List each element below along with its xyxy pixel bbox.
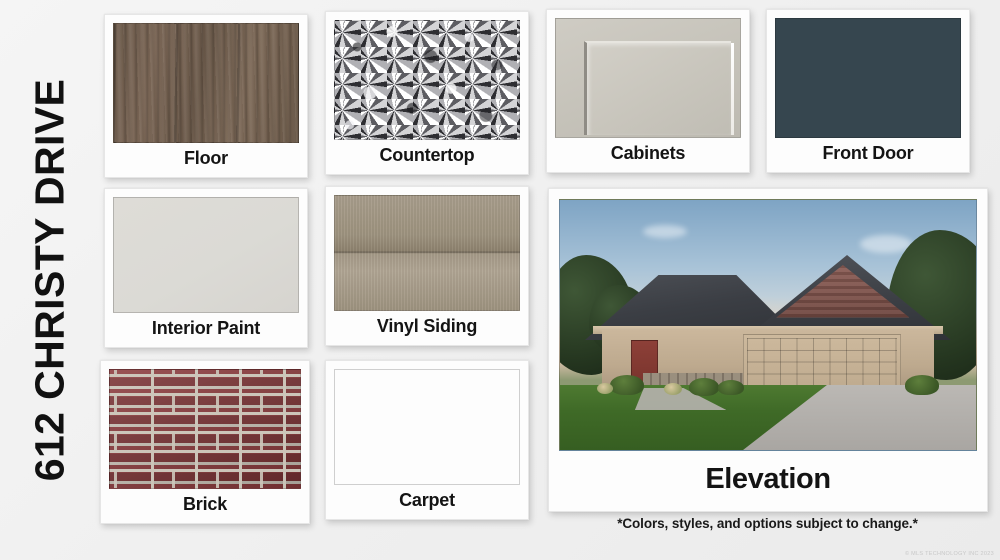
swatch-countertop bbox=[334, 20, 520, 140]
flower-bed-icon bbox=[664, 383, 682, 395]
selection-label-front-door: Front Door bbox=[775, 138, 961, 172]
cloud-icon bbox=[643, 225, 687, 238]
swatch-cabinets bbox=[555, 18, 741, 138]
selection-label-cabinets: Cabinets bbox=[555, 138, 741, 172]
selections-board: 612 CHRISTY DRIVE Floor Countertop Cabin… bbox=[0, 0, 1000, 560]
disclaimer-text: *Colors, styles, and options subject to … bbox=[545, 516, 990, 531]
shrub-icon bbox=[905, 375, 939, 395]
cabinet-panel-detail bbox=[584, 41, 731, 134]
swatch-vinyl-siding bbox=[334, 195, 520, 311]
swatch-brick bbox=[109, 369, 301, 489]
shrub-icon bbox=[718, 380, 744, 395]
swatch-floor bbox=[113, 23, 299, 143]
address-title-rail: 612 CHRISTY DRIVE bbox=[0, 0, 100, 560]
selection-label-floor: Floor bbox=[113, 143, 299, 177]
elevation-label: Elevation bbox=[559, 451, 977, 511]
selection-label-carpet: Carpet bbox=[334, 485, 520, 519]
selection-card-brick[interactable]: Brick bbox=[100, 360, 310, 524]
selection-label-brick: Brick bbox=[109, 489, 301, 523]
selection-label-interior-paint: Interior Paint bbox=[113, 313, 299, 347]
flower-bed-icon bbox=[597, 383, 613, 394]
garage-door bbox=[743, 334, 901, 389]
elevation-rendering bbox=[559, 199, 977, 451]
selection-card-front-door[interactable]: Front Door bbox=[766, 9, 970, 173]
selection-card-vinyl-siding[interactable]: Vinyl Siding bbox=[325, 186, 529, 346]
selection-card-floor[interactable]: Floor bbox=[104, 14, 308, 178]
swatch-interior-paint bbox=[113, 197, 299, 313]
selection-card-carpet[interactable]: Carpet bbox=[325, 360, 529, 520]
selection-card-interior-paint[interactable]: Interior Paint bbox=[104, 188, 308, 348]
shrub-icon bbox=[610, 375, 644, 395]
swatch-front-door bbox=[775, 18, 961, 138]
page-title: 612 CHRISTY DRIVE bbox=[27, 79, 74, 482]
selection-card-countertop[interactable]: Countertop bbox=[325, 11, 529, 175]
elevation-card[interactable]: Elevation bbox=[548, 188, 988, 512]
copyright-watermark: © MLS TECHNOLOGY INC 2023 bbox=[905, 551, 994, 557]
selection-label-countertop: Countertop bbox=[334, 140, 520, 174]
swatch-carpet bbox=[334, 369, 520, 485]
selection-label-vinyl-siding: Vinyl Siding bbox=[334, 311, 520, 345]
shrub-icon bbox=[689, 378, 719, 396]
brick-bond-offset bbox=[110, 370, 300, 488]
selection-card-cabinets[interactable]: Cabinets bbox=[546, 9, 750, 173]
